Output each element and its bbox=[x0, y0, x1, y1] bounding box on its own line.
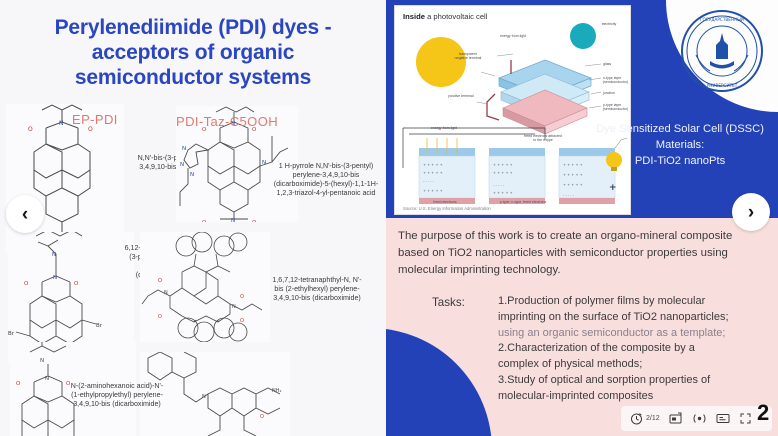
broadcast-icon[interactable] bbox=[692, 412, 707, 425]
secondary-cursor-marker: 2 bbox=[757, 400, 769, 426]
label-energy-from-light-2: energy from light bbox=[429, 126, 459, 130]
label-positive-terminal: positive terminal bbox=[447, 94, 475, 98]
svg-text:+ + + + +: + + + + + bbox=[493, 171, 513, 175]
page-title-line-1: Perylenediimide (PDI) dyes - bbox=[12, 16, 374, 41]
molecule-name-ep-pdi: EP-PDI bbox=[72, 112, 118, 127]
svg-text:N: N bbox=[164, 290, 168, 296]
purpose-statement: The purpose of this work is to create an… bbox=[398, 228, 764, 279]
label-n-type-layer: n-type layer (semiconductor) bbox=[603, 76, 629, 84]
task-line: complex of physical methods; bbox=[498, 357, 762, 373]
tasks-label: Tasks: bbox=[432, 296, 465, 309]
label-transparent-negative-terminal: transparent negative terminal bbox=[453, 52, 483, 60]
svg-text:O: O bbox=[24, 281, 29, 287]
task-line: imprinting on the surface of TiO2 nanopa… bbox=[498, 310, 762, 326]
label-freed-electrons: freed electrons bbox=[425, 200, 465, 204]
svg-text:- - - - -: - - - - - bbox=[563, 193, 575, 197]
svg-text:N: N bbox=[59, 120, 64, 127]
left-content-column: Perylenediimide (PDI) dyes - acceptors o… bbox=[0, 0, 386, 436]
svg-text:+: + bbox=[609, 183, 617, 193]
svg-text:Br: Br bbox=[8, 331, 15, 337]
tetranaphthyl-pdi-structure-icon: NN OO OO bbox=[140, 232, 270, 342]
svg-text:O: O bbox=[74, 281, 79, 287]
sun-icon bbox=[416, 37, 466, 87]
university-seal-logo-icon: ГОСУДАРСТВЕННЫЙ УНИВЕРСИТЕТ bbox=[680, 9, 764, 93]
svg-text:+ + + + +: + + + + + bbox=[563, 163, 583, 167]
page-title: Perylenediimide (PDI) dyes - acceptors o… bbox=[12, 16, 374, 90]
page-title-line-2: acceptors of organic bbox=[12, 41, 374, 66]
structure-tetranaphthyl-pdi: NN OO OO bbox=[140, 232, 270, 342]
label-electricity: electricity bbox=[593, 22, 625, 26]
task-line: using an organic semiconductor as a temp… bbox=[498, 326, 762, 342]
task-line: 2.Characterization of the composite by a bbox=[498, 341, 762, 357]
present-screen-icon[interactable] bbox=[669, 412, 683, 425]
label-p-type-layer: p-type layer (semiconductor) bbox=[603, 103, 629, 111]
svg-text:ГОСУДАРСТВЕННЫЙ: ГОСУДАРСТВЕННЫЙ bbox=[700, 17, 744, 22]
label-energy-from-light: energy from light bbox=[499, 34, 527, 38]
svg-text:N: N bbox=[262, 160, 266, 166]
svg-text:+ + + + +: + + + + + bbox=[563, 183, 583, 187]
page-title-line-3: semiconductor systems bbox=[12, 66, 374, 91]
task-line: 1.Production of polymer films by molecul… bbox=[498, 294, 762, 310]
label-glass: glass bbox=[603, 62, 611, 66]
svg-text:- - - - -: - - - - - bbox=[493, 183, 505, 187]
task-line: molecular-imprinted composites bbox=[498, 389, 762, 405]
svg-text:O: O bbox=[252, 220, 257, 222]
svg-text:O: O bbox=[158, 278, 162, 284]
svg-text:+ + + + +: + + + + + bbox=[423, 171, 443, 175]
svg-text:N: N bbox=[182, 146, 186, 152]
svg-text:+ + + + +: + + + + + bbox=[423, 189, 443, 193]
presentation-slide: Perylenediimide (PDI) dyes - acceptors o… bbox=[0, 0, 778, 436]
svg-text:Br: Br bbox=[96, 323, 103, 329]
blue-quarter-circle-decoration bbox=[386, 328, 492, 436]
svg-text:+ + + + +: + + + + + bbox=[493, 163, 513, 167]
svg-text:+ + + + +: + + + + + bbox=[493, 191, 513, 195]
photovoltaic-diagram-source: Source: U.S. Energy Information Administ… bbox=[403, 206, 491, 211]
molecular-structures-area: OO OO NN EP-PDI N,N'-bis-(3-pentyl) pery… bbox=[0, 104, 386, 436]
photovoltaic-diagram-card: Inside a photovoltaic cell bbox=[394, 5, 631, 215]
svg-text:O: O bbox=[88, 126, 93, 133]
svg-text:+ + + + +: + + + + + bbox=[563, 173, 583, 177]
svg-text:O: O bbox=[240, 294, 244, 300]
caption-tetranaphthyl-pdi: 1,6,7,12-tetranaphthyl-N, N'- bis (2-eth… bbox=[252, 276, 382, 303]
svg-text:O: O bbox=[202, 220, 207, 222]
svg-text:N: N bbox=[202, 394, 206, 400]
timer-icon[interactable] bbox=[630, 412, 643, 425]
svg-text:O: O bbox=[260, 414, 264, 420]
svg-text:+ + + + +: + + + + + bbox=[423, 163, 443, 167]
dssc-line-1: Dye Sensitized Solar Cell (DSSC) bbox=[582, 122, 778, 138]
svg-text:N: N bbox=[231, 218, 235, 222]
tasks-list: 1.Production of polymer films by molecul… bbox=[498, 294, 762, 405]
previous-slide-button[interactable]: ‹ bbox=[6, 195, 44, 233]
svg-text:N: N bbox=[180, 162, 184, 168]
caption-pdi-taz: 1 H-pyrrole N,N'-bis-(3-pentyl) perylene… bbox=[268, 162, 384, 198]
svg-text:O: O bbox=[28, 126, 33, 133]
svg-text:N: N bbox=[232, 304, 236, 310]
label-freed-electrons-attracted: freed electrons attracted to the n-type bbox=[523, 134, 563, 142]
purpose-and-tasks-panel: The purpose of this work is to create an… bbox=[386, 218, 778, 436]
molecule-name-pdi-taz: PDI-Taz-C5OOH bbox=[176, 114, 278, 129]
caption-aminohexanoic-pdi: N-(2-aminohexanoic acid)-N'- (1-ethylpro… bbox=[42, 382, 192, 409]
dssc-line-2: Materials: bbox=[582, 138, 778, 154]
next-slide-button[interactable]: › bbox=[732, 193, 770, 231]
dssc-line-3: PDI-TiO2 nanoPts bbox=[582, 154, 778, 170]
photovoltaic-diagram-graphic: + + + + ++ + + + + - - - - -+ + + + + + … bbox=[395, 20, 628, 215]
svg-text:N: N bbox=[190, 172, 194, 178]
svg-text:NH₂: NH₂ bbox=[272, 388, 282, 394]
svg-text:O: O bbox=[158, 314, 162, 320]
svg-text:N: N bbox=[52, 252, 56, 258]
svg-text:- - - - -: - - - - - bbox=[423, 179, 435, 183]
label-junction: junction bbox=[603, 91, 615, 95]
svg-text:УНИВЕРСИТЕТ: УНИВЕРСИТЕТ bbox=[707, 83, 738, 88]
presentation-toolbar[interactable]: 2/12 bbox=[621, 406, 772, 431]
label-p-type-n-type: p-type, n-type, freed electrons bbox=[487, 200, 559, 204]
dssc-materials-text: Dye Sensitized Solar Cell (DSSC) Materia… bbox=[582, 122, 778, 170]
chevron-right-icon: › bbox=[748, 203, 754, 222]
svg-text:O: O bbox=[240, 318, 244, 324]
svg-text:N: N bbox=[40, 358, 44, 364]
captions-icon[interactable] bbox=[716, 412, 730, 425]
task-line: 3.Study of optical and sorption properti… bbox=[498, 373, 762, 389]
teal-circle-decoration bbox=[570, 23, 596, 49]
solar-cell-layers bbox=[499, 60, 591, 134]
fullscreen-icon[interactable] bbox=[739, 412, 752, 425]
chevron-left-icon: ‹ bbox=[22, 205, 28, 224]
svg-text:O: O bbox=[16, 381, 21, 387]
slide-counter: 2/12 bbox=[646, 415, 660, 422]
svg-text:N: N bbox=[53, 275, 57, 281]
